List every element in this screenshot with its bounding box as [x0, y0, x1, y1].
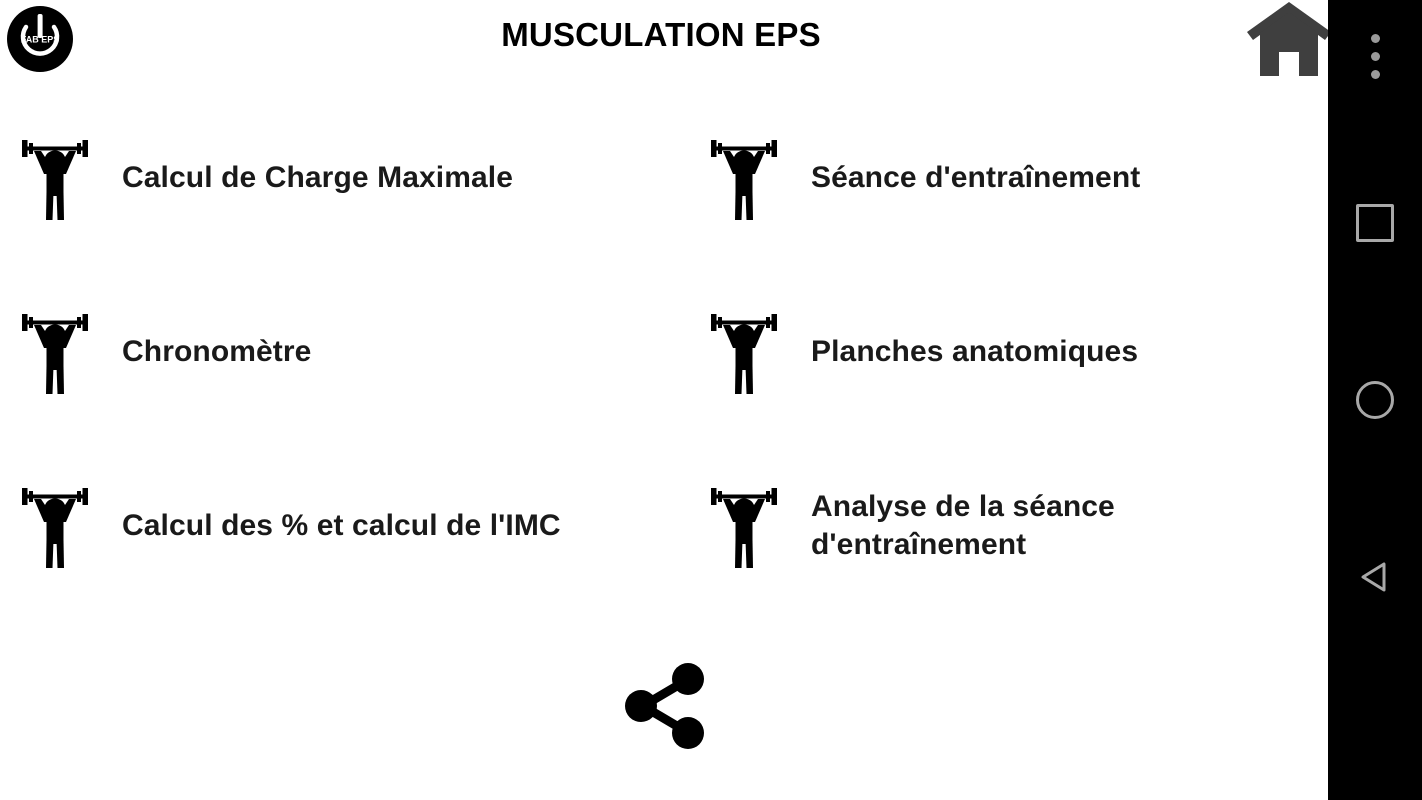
- weightlifter-icon: [14, 480, 96, 572]
- weightlifter-icon: [703, 480, 785, 572]
- overflow-dot: [1371, 70, 1380, 79]
- menu-item-label: Planches anatomiques: [811, 333, 1138, 371]
- square-recents-icon[interactable]: [1328, 176, 1422, 270]
- system-navigation-bar: [1328, 0, 1422, 800]
- overflow-dot: [1371, 34, 1380, 43]
- weightlifter-icon: [703, 306, 785, 398]
- weightlifter-icon: [14, 132, 96, 224]
- menu-item-label: Analyse de la séance d'entraînement: [811, 488, 1115, 565]
- screen: FAB EPS MUSCULATION EPS: [0, 0, 1422, 800]
- home-circle-shape: [1356, 381, 1394, 419]
- menu-item-label: Calcul de Charge Maximale: [122, 159, 513, 197]
- app-content-area: FAB EPS MUSCULATION EPS: [0, 0, 1328, 800]
- menu-item-seance-entrainement[interactable]: Séance d'entraînement: [703, 118, 1303, 238]
- menu-item-chronometre[interactable]: Chronomètre: [14, 292, 654, 412]
- app-header: FAB EPS MUSCULATION EPS: [0, 0, 1328, 82]
- menu-item-calcul-charge-maximale[interactable]: Calcul de Charge Maximale: [14, 118, 654, 238]
- weightlifter-icon: [703, 132, 785, 224]
- menu-item-analyse-seance-entrainement[interactable]: Analyse de la séance d'entraînement: [703, 466, 1303, 586]
- menu-item-label: Chronomètre: [122, 333, 311, 371]
- weightlifter-icon: [14, 306, 96, 398]
- menu-grid: Calcul de Charge Maximale: [0, 118, 1328, 638]
- menu-item-calcul-pourcentages-imc[interactable]: Calcul des % et calcul de l'IMC: [14, 466, 654, 586]
- home-icon[interactable]: [1243, 0, 1335, 76]
- menu-item-planches-anatomiques[interactable]: Planches anatomiques: [703, 292, 1303, 412]
- recents-square-shape: [1356, 204, 1394, 242]
- three-dots-vertical-icon[interactable]: [1328, 12, 1422, 100]
- circle-home-icon[interactable]: [1328, 353, 1422, 447]
- page-title: MUSCULATION EPS: [0, 16, 1328, 54]
- share-icon[interactable]: [612, 655, 718, 757]
- overflow-dot: [1371, 52, 1380, 61]
- menu-item-label: Séance d'entraînement: [811, 159, 1140, 197]
- menu-item-label: Calcul des % et calcul de l'IMC: [122, 507, 561, 545]
- triangle-back-icon[interactable]: [1328, 530, 1422, 624]
